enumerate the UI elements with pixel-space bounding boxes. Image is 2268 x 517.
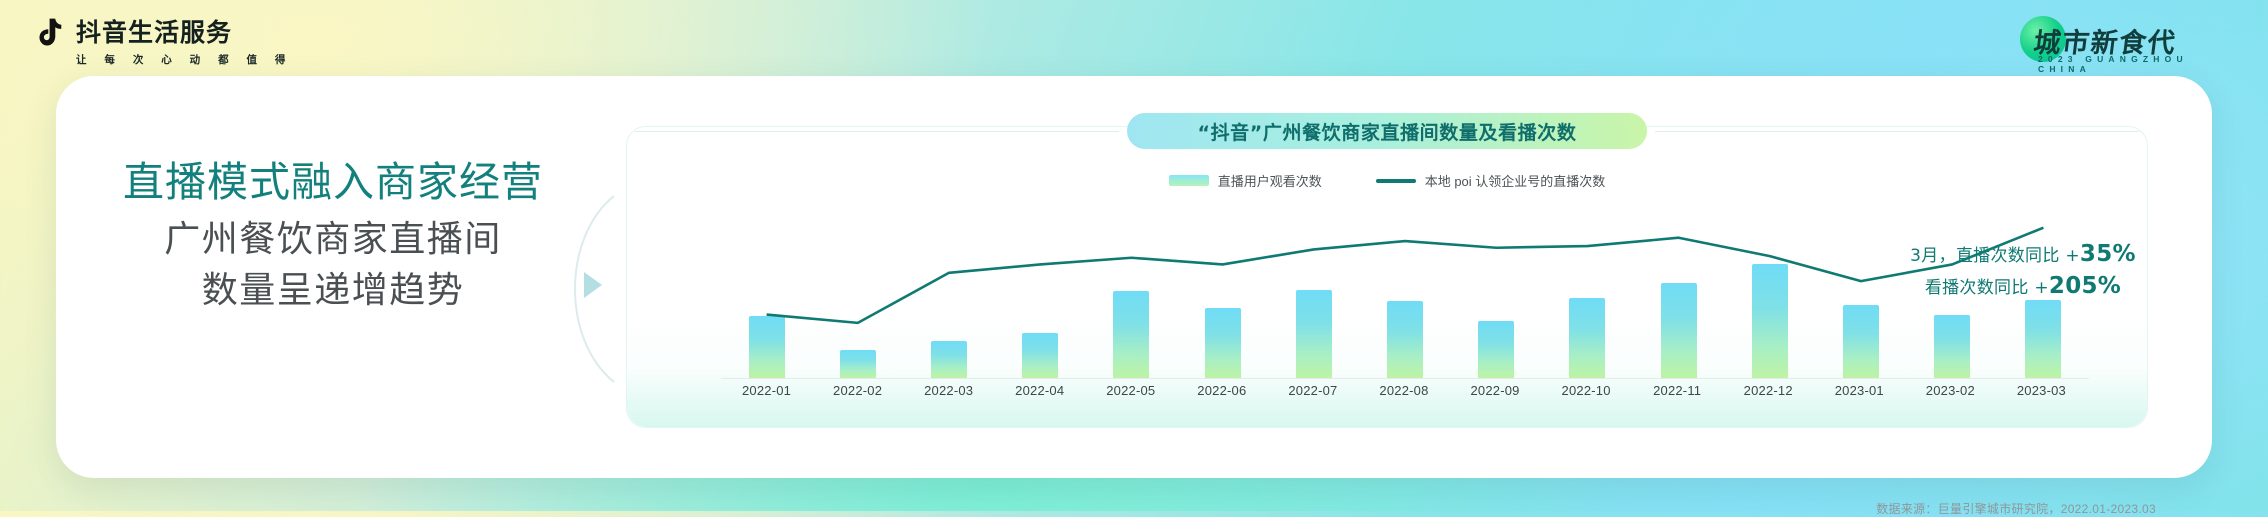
poster-stage: 抖音生活服务 让 每 次 心 动 都 值 得 城市新食代 2023 GUANGZ…	[0, 0, 2268, 511]
source-note: 数据来源：巨量引擎城市研究院，2022.01-2023.03	[1876, 500, 2156, 517]
legend-item-line[interactable]: 本地 poi 认领企业号的直播次数	[1376, 171, 1606, 190]
arrow-triangle	[584, 272, 602, 298]
annotation-line-2-value: 205%	[2049, 273, 2121, 299]
hero-sub-line-2: 数量呈递增趋势	[98, 265, 568, 316]
annotation-line-1-prefix: 3月，直播次数同比 +	[1910, 246, 2080, 266]
legend-label-bars: 直播用户观看次数	[1218, 171, 1322, 190]
annotation-line-2: 看播次数同比 +205%	[1878, 273, 2168, 299]
hero-sub-line-1: 广州餐饮商家直播间	[98, 214, 568, 265]
pill-rule-left	[635, 131, 1119, 132]
growth-annotation: 3月，直播次数同比 +35% 看播次数同比 +205%	[1878, 241, 2168, 299]
hero-text-block: 直播模式融入商家经营 广州餐饮商家直播间 数量呈递增趋势	[98, 158, 568, 317]
brand-lockup: 抖音生活服务 让 每 次 心 动 都 值 得	[36, 18, 293, 67]
chart-legend: 直播用户观看次数 本地 poi 认领企业号的直播次数	[627, 171, 2147, 190]
legend-item-bars[interactable]: 直播用户观看次数	[1169, 171, 1322, 190]
content-card: 直播模式融入商家经营 广州餐饮商家直播间 数量呈递增趋势 “抖音”广州餐饮商家直…	[56, 76, 2212, 478]
annotation-line-2-prefix: 看播次数同比 +	[1925, 278, 2049, 298]
event-logo: 城市新食代 2023 GUANGZHOU CHINA	[2004, 14, 2234, 70]
x-label-2022-04: 2022-04	[994, 383, 1085, 398]
brand-text: 抖音生活服务 让 每 次 心 动 都 值 得	[76, 18, 293, 67]
x-label-2022-12: 2022-12	[1723, 383, 1814, 398]
x-label-2022-11: 2022-11	[1632, 383, 1723, 398]
legend-bar-swatch-icon	[1169, 175, 1209, 186]
x-axis-line	[721, 378, 2089, 379]
chart-title: “抖音”广州餐饮商家直播间数量及看播次数	[1198, 118, 1577, 145]
x-label-2023-03: 2023-03	[1996, 383, 2087, 398]
annotation-line-1: 3月，直播次数同比 +35%	[1878, 241, 2168, 267]
event-logo-subtitle: 2023 GUANGZHOU CHINA	[2038, 54, 2234, 74]
x-axis-labels: 2022-012022-022022-032022-042022-052022-…	[721, 383, 2087, 398]
x-label-2022-03: 2022-03	[903, 383, 994, 398]
pill-rule-right	[1655, 131, 2139, 132]
x-label-2022-05: 2022-05	[1085, 383, 1176, 398]
arrow-right-icon	[556, 258, 616, 318]
legend-label-line: 本地 poi 认领企业号的直播次数	[1425, 171, 1606, 190]
brand-tagline: 让 每 次 心 动 都 值 得	[76, 52, 293, 67]
x-label-2022-01: 2022-01	[721, 383, 812, 398]
x-label-2022-07: 2022-07	[1267, 383, 1358, 398]
brand-name: 抖音生活服务	[76, 18, 293, 48]
x-label-2022-02: 2022-02	[812, 383, 903, 398]
tiktok-note-icon	[36, 18, 66, 52]
x-label-2022-08: 2022-08	[1358, 383, 1449, 398]
x-label-2022-09: 2022-09	[1450, 383, 1541, 398]
chart-title-pill: “抖音”广州餐饮商家直播间数量及看播次数	[1127, 113, 1647, 149]
legend-line-swatch-icon	[1376, 179, 1416, 183]
hero-subheadline: 广州餐饮商家直播间 数量呈递增趋势	[98, 214, 568, 316]
hero-headline: 直播模式融入商家经营	[98, 158, 568, 206]
x-label-2023-01: 2023-01	[1814, 383, 1905, 398]
annotation-line-1-value: 35%	[2080, 241, 2136, 267]
x-label-2022-06: 2022-06	[1176, 383, 1267, 398]
x-label-2022-10: 2022-10	[1541, 383, 1632, 398]
x-label-2023-02: 2023-02	[1905, 383, 1996, 398]
